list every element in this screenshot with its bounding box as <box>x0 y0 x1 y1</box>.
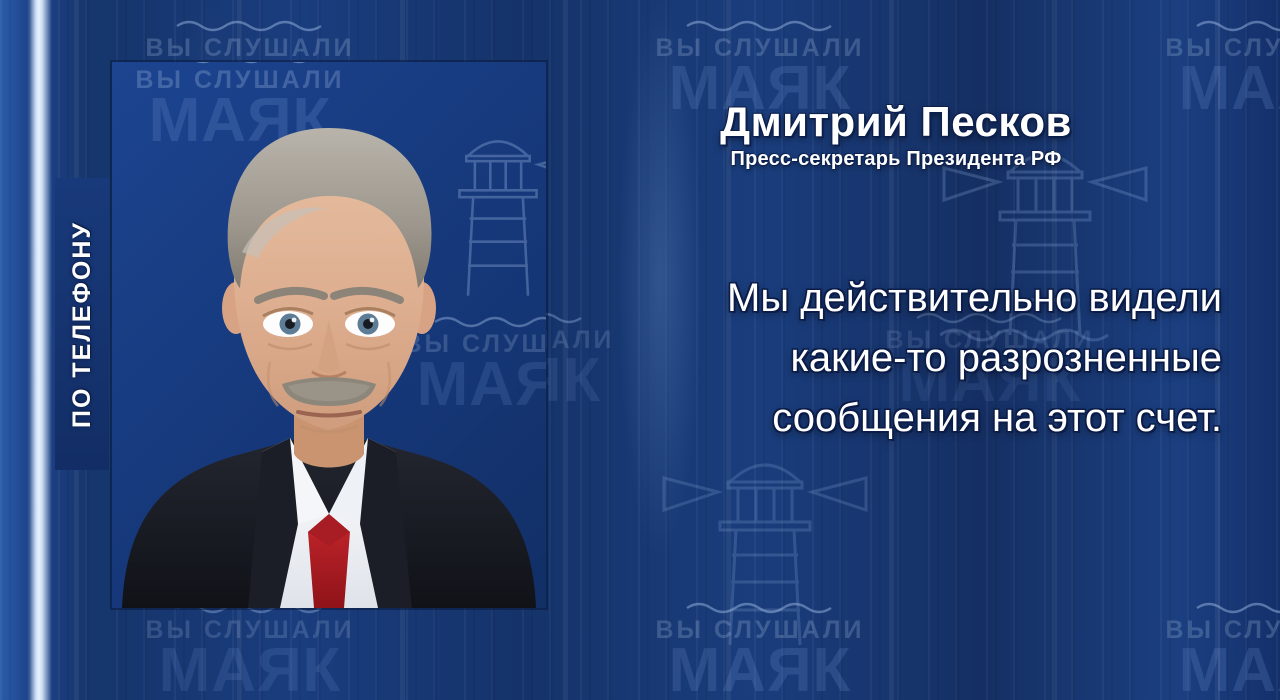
quote-line: какие-то разрозненные <box>542 328 1222 388</box>
connection-mode-badge: ПО ТЕЛЕФОНУ <box>55 178 109 470</box>
station-watermark: ВЫ СЛУШАЛИ МАЯК <box>100 600 400 700</box>
watermark-main-text: МАЯК <box>159 641 342 700</box>
speaker-role: Пресс-секретарь Президента РФ <box>556 148 1236 171</box>
quote-text: Мы действительно видели какие-то разрозн… <box>542 268 1222 448</box>
speaker-name: Дмитрий Песков <box>556 98 1236 146</box>
watermark-top-text: ВЫ СЛУШАЛИ <box>656 36 865 61</box>
quote-line: сообщения на этот счет. <box>542 388 1222 448</box>
watermark-main-text: МАЯК <box>669 641 852 700</box>
waves-icon <box>175 18 325 34</box>
waves-icon <box>1195 600 1280 616</box>
waves-icon <box>685 18 835 34</box>
lighthouse-icon <box>660 430 870 660</box>
broadcast-graphic: ВЫ СЛУШАЛИ МАЯК ВЫ СЛУШАЛИ МАЯК ВЫ СЛУША… <box>0 0 1280 700</box>
station-watermark: ВЫ СЛУШАЛИ МАЯК <box>1120 600 1280 700</box>
speaker-portrait-illustration <box>112 62 546 608</box>
speaker-photo: ВЫ СЛУШАЛИ МАЯК ВЫ СЛУШАЛИ МАЯК <box>112 62 546 608</box>
watermark-top-text: ВЫ СЛУШАЛИ <box>146 36 355 61</box>
watermark-top-text: ВЫ СЛУШАЛИ <box>146 618 355 643</box>
watermark-top-text: ВЫ СЛУШАЛИ <box>656 618 865 643</box>
watermark-top-text: ВЫ СЛУШАЛИ <box>1166 618 1280 643</box>
station-watermark: ВЫ СЛУШАЛИ МАЯК <box>610 600 910 700</box>
connection-mode-label: ПО ТЕЛЕФОНУ <box>68 221 97 428</box>
waves-icon <box>1195 18 1280 34</box>
waves-icon <box>685 600 835 616</box>
watermark-top-text: ВЫ СЛУШАЛИ <box>1166 36 1280 61</box>
quote-line: Мы действительно видели <box>542 268 1222 328</box>
watermark-main-text: МАЯК <box>1179 641 1280 700</box>
